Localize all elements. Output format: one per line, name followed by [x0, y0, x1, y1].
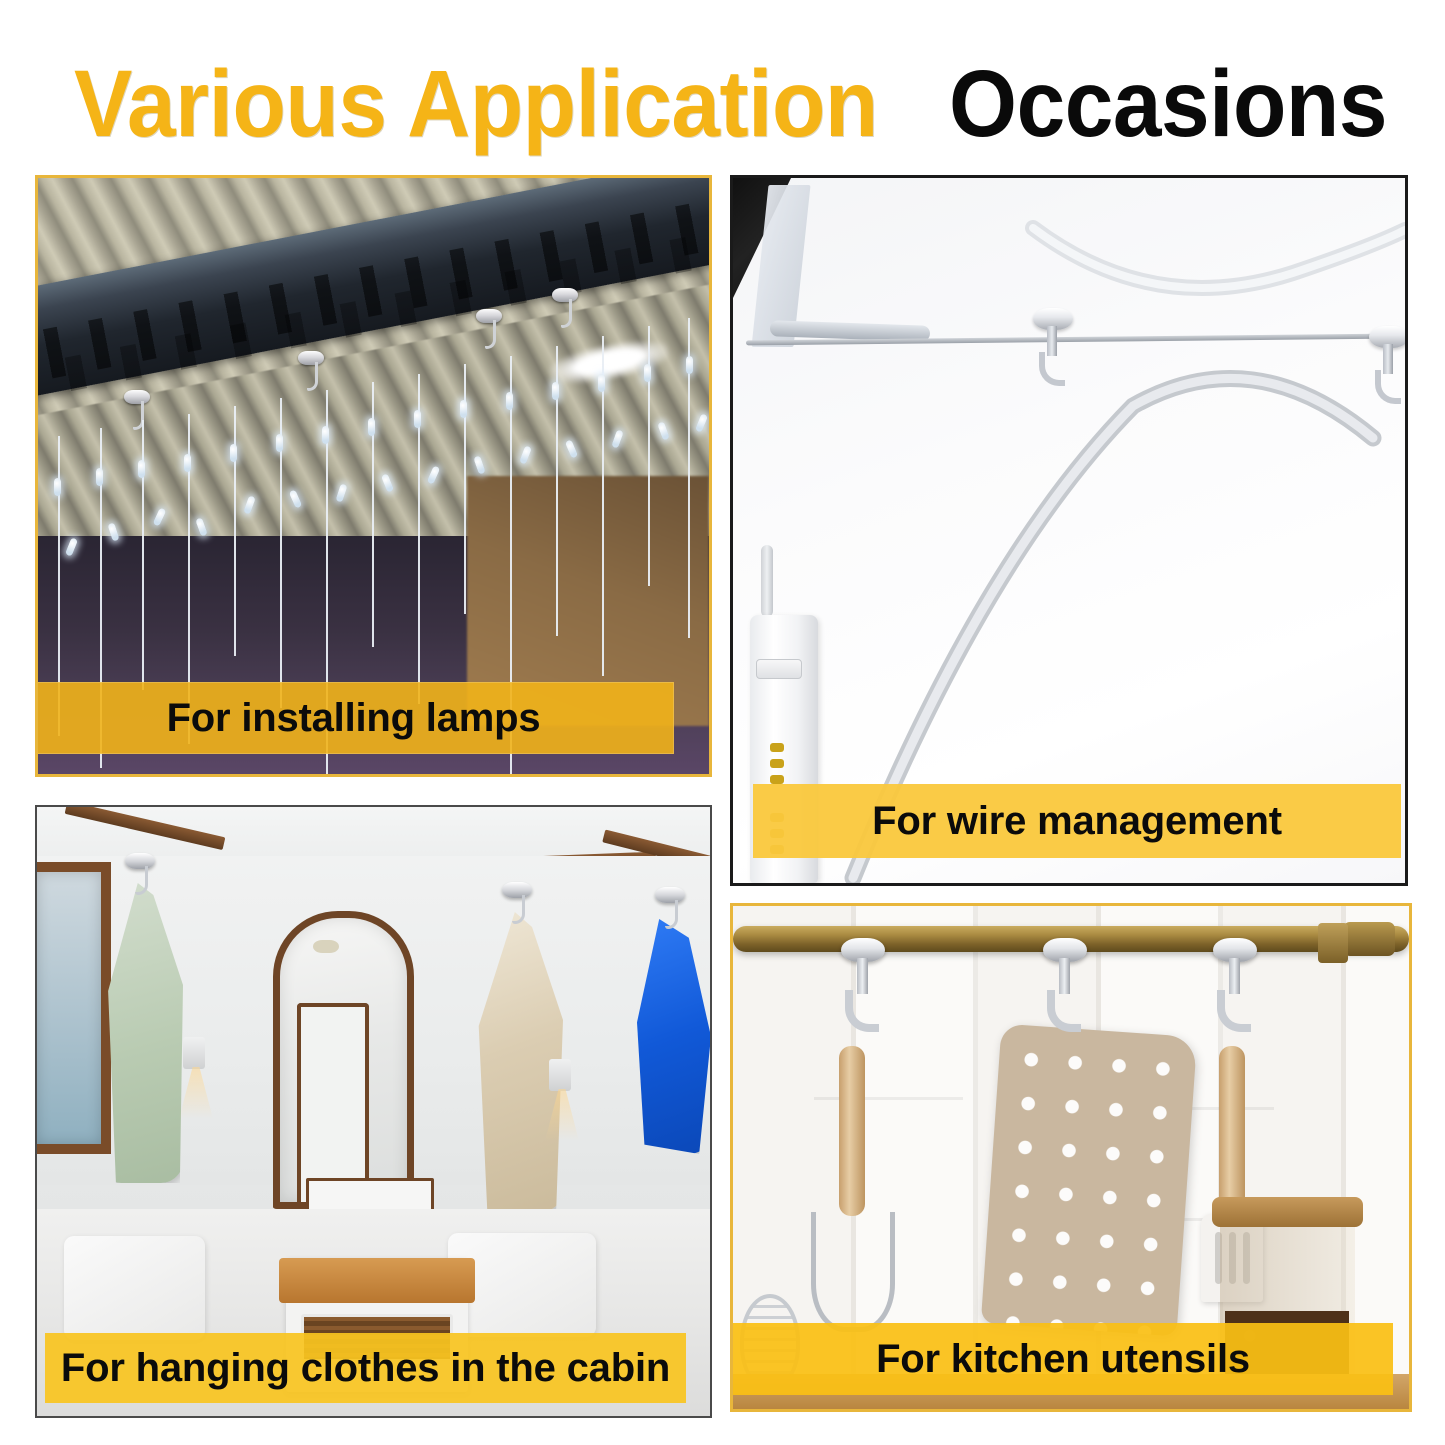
led-bulb [184, 454, 191, 472]
led-bulb [598, 374, 605, 392]
led-bulb [552, 382, 559, 400]
scene-boat-cabin [37, 807, 710, 1416]
caption-kitchen-utensils: For kitchen utensils [733, 1323, 1393, 1395]
caption-wire-management: For wire management [753, 784, 1401, 858]
magnetic-hook [476, 309, 502, 323]
led-bulb [322, 426, 329, 444]
rail-wall-mount [1318, 923, 1348, 963]
page-title-secondary: Occasions [949, 57, 1387, 152]
masher-handle [839, 1046, 865, 1216]
led-bulb [276, 434, 283, 452]
scene-white-wall-wires [733, 178, 1405, 883]
rail-end-cap [1343, 922, 1395, 956]
magnetic-hook [1043, 938, 1087, 962]
bench-pillow [64, 1236, 205, 1340]
magnetic-hook [124, 390, 150, 404]
led-bulb [414, 410, 421, 428]
magnetic-hook [502, 882, 532, 898]
magnetic-hook [841, 938, 885, 962]
oven-mitt-polka-dots [981, 1024, 1197, 1337]
power-outlet [766, 743, 788, 789]
led-bulb [686, 356, 693, 374]
magnetic-hook [1213, 938, 1257, 962]
hook-stem [857, 958, 868, 994]
power-cord [761, 545, 773, 617]
infographic-root: Various Application Occasions [0, 0, 1445, 1445]
plank-seam [814, 1097, 963, 1100]
oven-mitt [981, 1024, 1197, 1337]
reflected-ceiling-lamp [313, 940, 339, 953]
panel-kitchen-utensils[interactable]: For kitchen utensils [730, 903, 1412, 1412]
wall-mirror [273, 911, 414, 1209]
led-bulb [506, 392, 513, 410]
led-bulb [96, 468, 103, 486]
reflected-doorway [297, 1003, 368, 1202]
power-switch[interactable] [756, 659, 802, 679]
magnetic-hook [655, 887, 685, 903]
magnetic-hook [1369, 326, 1408, 348]
led-bulb [230, 444, 237, 462]
page-title: Various Application Occasions [0, 47, 1445, 162]
cabin-window [37, 862, 111, 1154]
page-title-accent: Various Application [74, 57, 878, 152]
led-bulb [368, 418, 375, 436]
magnetic-hook [552, 288, 578, 302]
panel-wire-management[interactable]: For wire management [730, 175, 1408, 886]
hook-stem [1229, 958, 1240, 994]
jar-wooden-lid [1212, 1197, 1363, 1227]
caption-installing-lamps: For installing lamps [35, 682, 674, 754]
led-bulb [460, 400, 467, 418]
panel-installing-lamps[interactable]: For installing lamps [35, 175, 712, 777]
magnetic-hook [1033, 308, 1073, 330]
hook-stem [1059, 958, 1070, 994]
masher-wire-head [811, 1212, 895, 1332]
led-bulb [138, 460, 145, 478]
wall-sconce [183, 1037, 205, 1069]
magnetic-hook [125, 853, 155, 869]
caption-hanging-clothes-cabin: For hanging clothes in the cabin [45, 1333, 686, 1403]
table-top [279, 1258, 475, 1304]
led-bulb [644, 364, 651, 382]
led-bulb [54, 478, 61, 496]
white-wall-background [733, 178, 1405, 883]
wall-sconce [549, 1059, 571, 1091]
spatula-handle [1219, 1046, 1245, 1221]
panel-hanging-clothes-cabin[interactable]: For hanging clothes in the cabin [35, 805, 712, 1418]
magnetic-hook [298, 351, 324, 365]
